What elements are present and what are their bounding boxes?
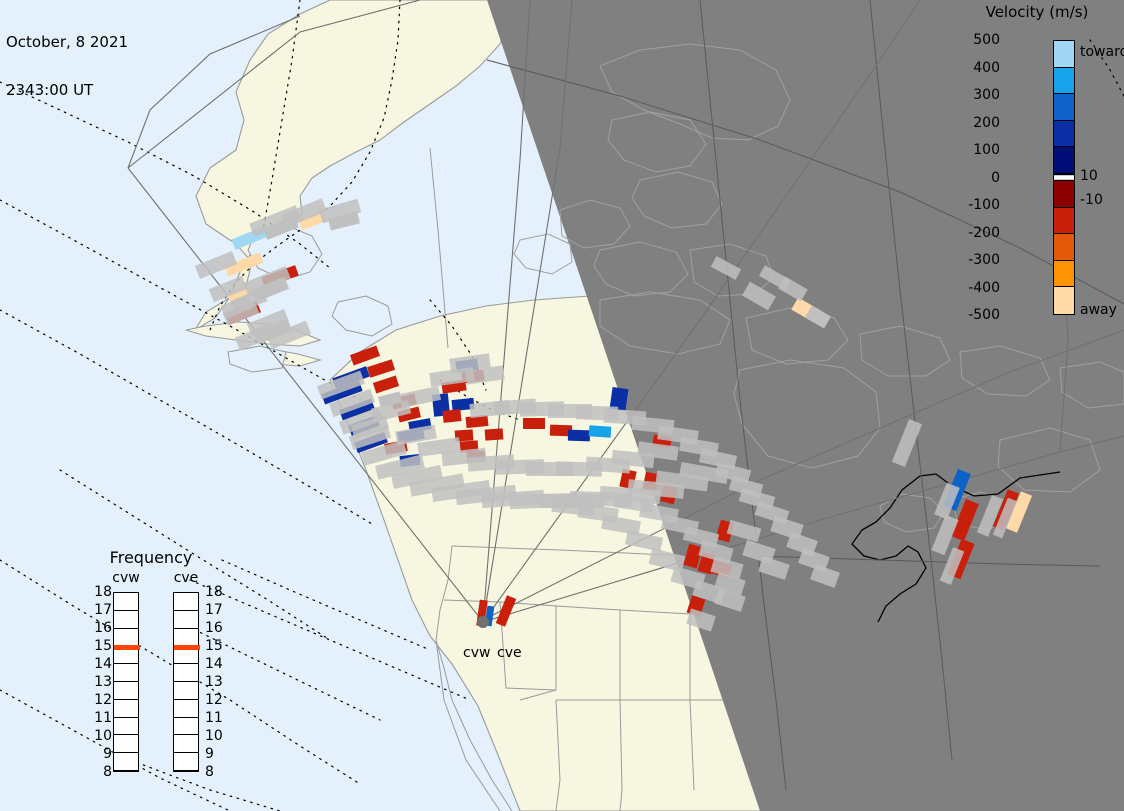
colorbar-segment-toward-0: [1054, 41, 1074, 68]
timestamp-time: 2343:00 UT: [6, 82, 128, 98]
frequency-column-label-cve: cve: [166, 570, 206, 586]
frequency-tick-left-15: 15: [86, 638, 112, 654]
frequency-marker-cve: [174, 645, 200, 650]
frequency-tick-right-14: 14: [205, 656, 231, 672]
colorbar-segment-away-4: [1054, 287, 1074, 314]
frequency-segment: [114, 700, 138, 718]
frequency-segment: [174, 700, 198, 718]
frequency-segment: [114, 593, 138, 611]
colorbar-segment-toward-2: [1054, 94, 1074, 121]
frequency-tick-right-15: 15: [205, 638, 231, 654]
site-label-cvw: cvw: [463, 645, 490, 661]
frequency-tick-left-10: 10: [86, 728, 112, 744]
frequency-tick-left-14: 14: [86, 656, 112, 672]
frequency-tick-right-13: 13: [205, 674, 231, 690]
colorbar-tick--300: -300: [944, 252, 1000, 268]
colorbar-tick-300: 300: [944, 87, 1000, 103]
frequency-legend-title: Frequency: [86, 548, 216, 567]
frequency-segment: [174, 718, 198, 736]
colorbar-zero-line: [1054, 176, 1074, 179]
frequency-segment: [174, 593, 198, 611]
colorbar-tick-500: 500: [944, 32, 1000, 48]
colorbar-zero-band: [1054, 174, 1074, 181]
frequency-segment: [174, 735, 198, 753]
frequency-segment: [114, 753, 138, 771]
colorbar-inner-bottom-label: -10: [1080, 192, 1103, 208]
frequency-tick-left-18: 18: [86, 584, 112, 600]
colorbar-away-label: away: [1080, 302, 1117, 318]
colorbar-tick--400: -400: [944, 280, 1000, 296]
frequency-segment: [114, 664, 138, 682]
colorbar-tick--100: -100: [944, 197, 1000, 213]
colorbar-tick--500: -500: [944, 307, 1000, 323]
frequency-segment: [114, 718, 138, 736]
frequency-column-label-cvw: cvw: [106, 570, 146, 586]
timestamp-date: October, 8 2021: [6, 34, 128, 50]
frequency-legend-panel: Frequency cvw cve 18171615141312111098 1…: [86, 548, 261, 778]
colorbar-segment-toward-4: [1054, 147, 1074, 174]
frequency-tick-right-16: 16: [205, 620, 231, 636]
velocity-cell: [523, 418, 545, 429]
frequency-tick-left-9: 9: [86, 746, 112, 762]
frequency-segment: [174, 664, 198, 682]
colorbar-segment-away-1: [1054, 208, 1074, 235]
frequency-tick-left-16: 16: [86, 620, 112, 636]
frequency-tick-left-11: 11: [86, 710, 112, 726]
frequency-tick-right-18: 18: [205, 584, 231, 600]
frequency-segment: [174, 753, 198, 771]
colorbar-gradient: [1053, 40, 1075, 315]
frequency-segment: [114, 735, 138, 753]
velocity-cell: [485, 428, 504, 440]
frequency-tick-right-12: 12: [205, 692, 231, 708]
frequency-segment: [114, 682, 138, 700]
frequency-segment: [174, 682, 198, 700]
velocity-colorbar-panel: Velocity (m/s) 5004003002001000-100-200-…: [962, 0, 1124, 345]
frequency-tick-left-13: 13: [86, 674, 112, 690]
colorbar-tick--200: -200: [944, 225, 1000, 241]
colorbar-toward-label: toward: [1080, 44, 1124, 60]
frequency-tick-right-8: 8: [205, 764, 231, 780]
radar-origin-marker: [477, 616, 489, 628]
map-canvas: October, 8 2021 2343:00 UT Velocity (m/s…: [0, 0, 1124, 811]
colorbar-tick-400: 400: [944, 60, 1000, 76]
frequency-bar-cve[interactable]: [173, 592, 199, 772]
colorbar-segment-away-2: [1054, 234, 1074, 261]
colorbar-tick-200: 200: [944, 115, 1000, 131]
timestamp-block: October, 8 2021 2343:00 UT: [6, 2, 128, 130]
frequency-tick-left-17: 17: [86, 602, 112, 618]
colorbar-tick-0: 0: [944, 170, 1000, 186]
colorbar-segment-toward-3: [1054, 121, 1074, 148]
velocity-cell: [589, 425, 612, 438]
velocity-cell: [568, 430, 590, 442]
colorbar-segment-away-3: [1054, 261, 1074, 288]
velocity-cell: [442, 409, 461, 423]
colorbar-segment-away-0: [1054, 181, 1074, 208]
frequency-tick-left-8: 8: [86, 764, 112, 780]
site-label-cve: cve: [497, 645, 522, 661]
frequency-tick-right-10: 10: [205, 728, 231, 744]
frequency-bar-cvw[interactable]: [113, 592, 139, 772]
colorbar-tick-100: 100: [944, 142, 1000, 158]
frequency-segment: [174, 611, 198, 629]
colorbar-inner-top-label: 10: [1080, 168, 1098, 184]
frequency-tick-right-9: 9: [205, 746, 231, 762]
colorbar-segment-toward-1: [1054, 68, 1074, 95]
frequency-marker-cvw: [114, 645, 140, 650]
frequency-segment: [114, 611, 138, 629]
frequency-tick-right-11: 11: [205, 710, 231, 726]
frequency-tick-left-12: 12: [86, 692, 112, 708]
colorbar-title: Velocity (m/s): [962, 3, 1112, 21]
frequency-tick-right-17: 17: [205, 602, 231, 618]
